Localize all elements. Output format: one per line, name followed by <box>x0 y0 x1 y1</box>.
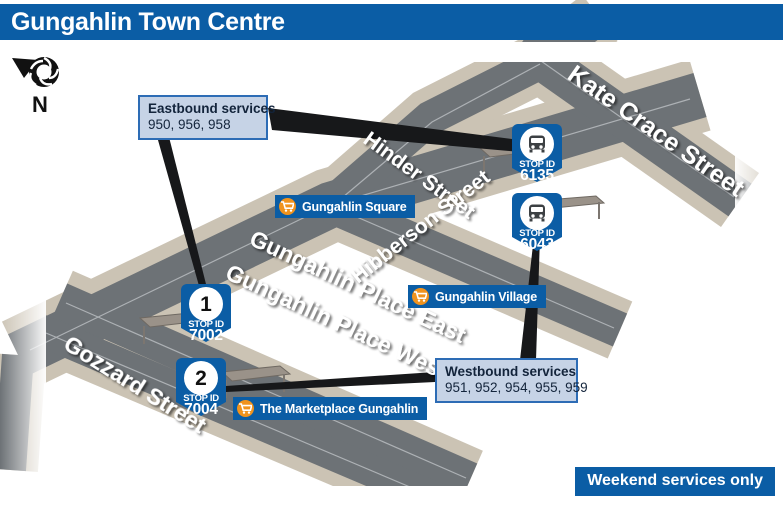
stop-id-number: 6043 <box>512 237 562 253</box>
shopping-cart-icon <box>279 198 296 215</box>
stop-sequence-badge: 2 <box>184 361 218 395</box>
poi-label: Gungahlin Village <box>435 290 537 304</box>
poi-gungahlin-square[interactable]: Gungahlin Square <box>275 195 415 218</box>
shopping-cart-icon <box>237 400 254 417</box>
poi-gungahlin-village[interactable]: Gungahlin Village <box>408 285 546 308</box>
street-network: Kate Crace Street Hinder Street Hibberso… <box>0 0 783 508</box>
callout-title: Westbound services <box>445 364 568 380</box>
stop-sequence-number: 1 <box>200 294 212 315</box>
callout-routes: 951, 952, 954, 955, 959 <box>445 380 568 396</box>
callout-title: Eastbound services <box>148 101 258 117</box>
weekend-services-badge: Weekend services only <box>575 467 775 496</box>
callout-routes: 950, 956, 958 <box>148 117 258 133</box>
stop-marker-6043[interactable]: STOP ID 6043 <box>512 193 562 251</box>
poi-label: The Marketplace Gungahlin <box>260 402 418 416</box>
shopping-cart-icon <box>412 288 429 305</box>
compass-rose-icon: N <box>8 48 78 118</box>
stop-marker-7002[interactable]: 1 STOP ID 7002 <box>181 284 231 342</box>
poi-label: Gungahlin Square <box>302 200 406 214</box>
page-title: Gungahlin Town Centre <box>0 10 285 35</box>
stop-marker-7004[interactable]: 2 STOP ID 7004 <box>176 358 226 416</box>
page-title-bar: Gungahlin Town Centre <box>0 4 783 40</box>
map-canvas: Kate Crace Street Hinder Street Hibberso… <box>0 0 783 508</box>
bus-icon <box>520 196 554 230</box>
stop-marker-6135[interactable]: STOP ID 6135 <box>512 124 562 182</box>
compass-north-label: N <box>32 94 48 116</box>
stop-sequence-number: 2 <box>195 368 207 389</box>
stop-id-number: 7002 <box>181 328 231 344</box>
bus-icon <box>520 127 554 161</box>
stop-id-number: 7004 <box>176 402 226 418</box>
stop-sequence-badge: 1 <box>189 287 223 321</box>
stop-id-number: 6135 <box>512 168 562 184</box>
callout-westbound-services[interactable]: Westbound services 951, 952, 954, 955, 9… <box>435 358 578 403</box>
callout-eastbound-services[interactable]: Eastbound services 950, 956, 958 <box>138 95 268 140</box>
weekend-services-label: Weekend services only <box>587 473 763 489</box>
poi-the-marketplace-gungahlin[interactable]: The Marketplace Gungahlin <box>233 397 427 420</box>
